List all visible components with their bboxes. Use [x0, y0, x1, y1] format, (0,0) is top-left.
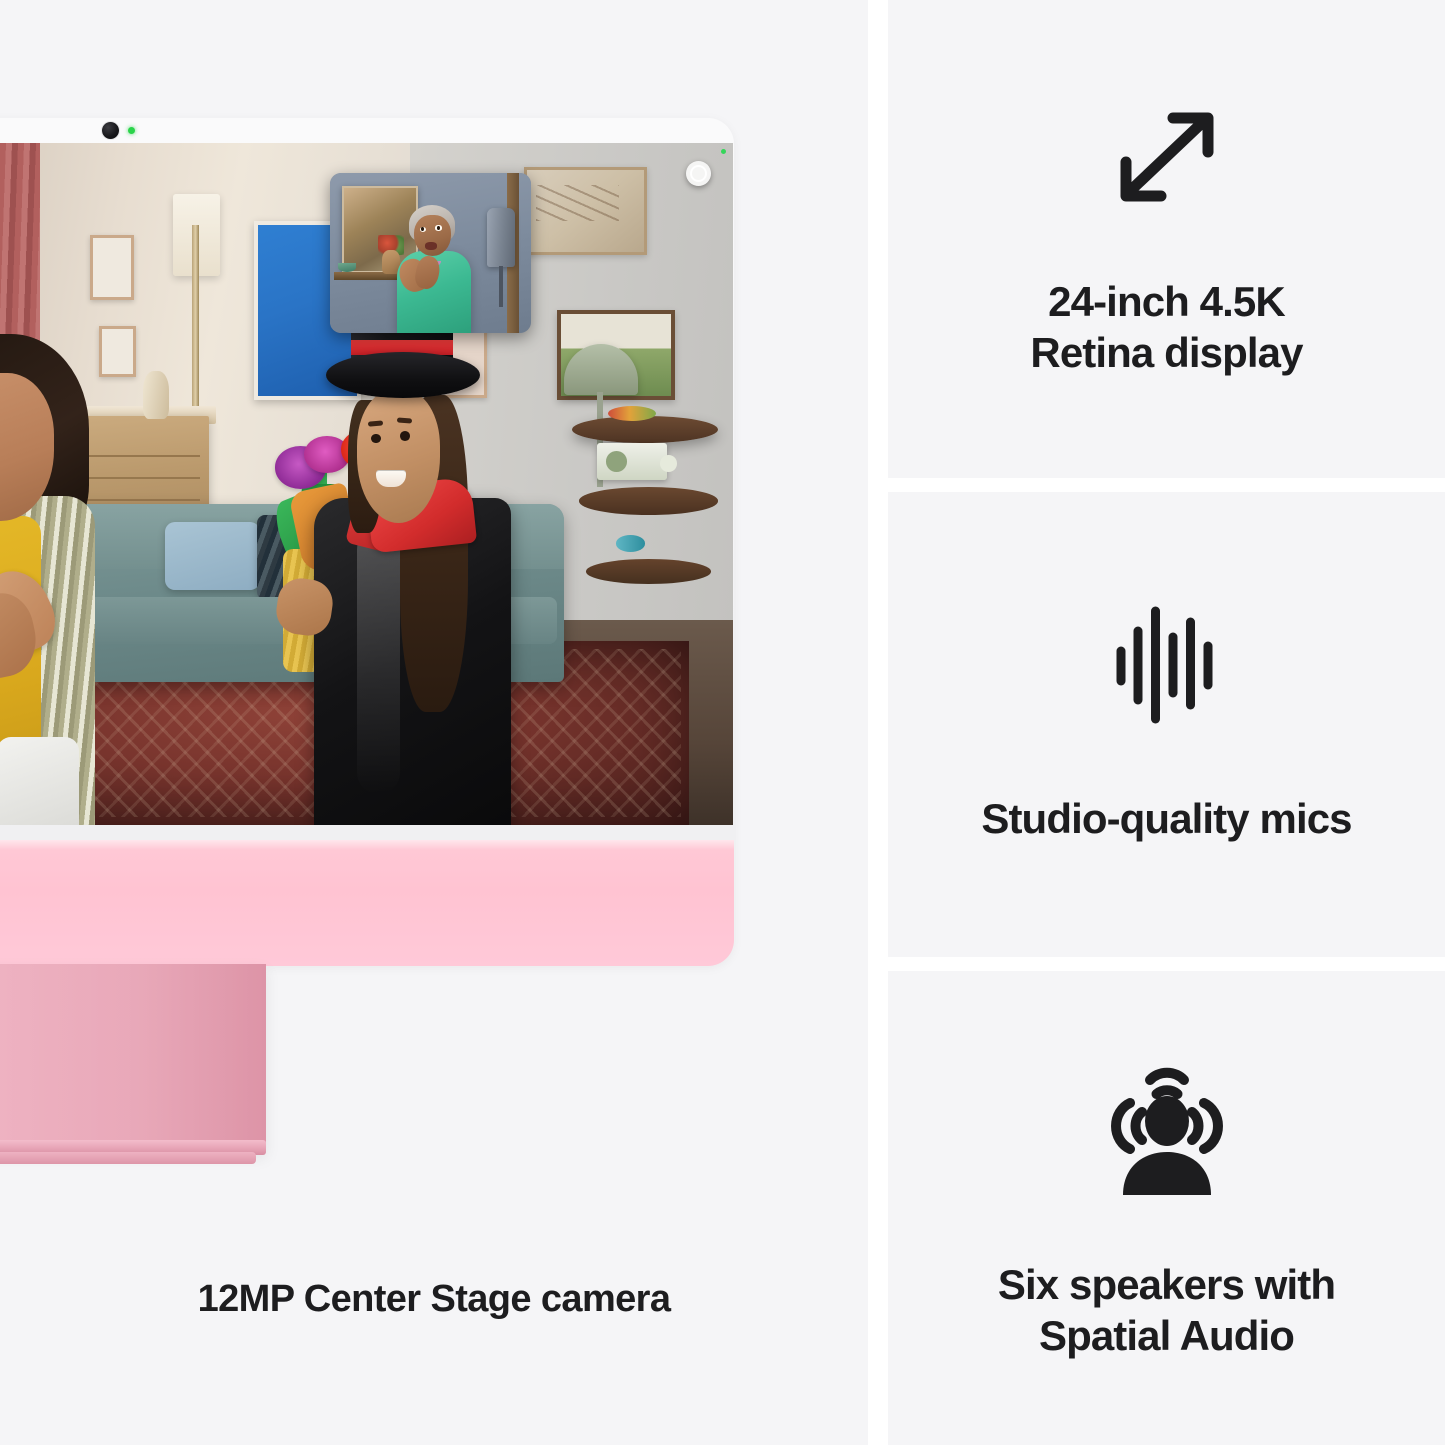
- imac-chin-highlight: [0, 840, 734, 850]
- feature-label-mics: Studio-quality mics: [981, 793, 1351, 844]
- facetime-self-view[interactable]: [330, 173, 531, 333]
- record-button-icon[interactable]: [686, 161, 711, 186]
- scene-girl-magician: [308, 314, 616, 826]
- camera-caption: 12MP Center Stage camera: [0, 1278, 868, 1321]
- imac-display: [0, 143, 733, 825]
- girl-eye: [371, 434, 381, 444]
- feature-card-mics: Studio-quality mics: [888, 492, 1445, 957]
- scene-teal-object: [616, 535, 645, 551]
- feature-card-display: 24-inch 4.5K Retina display: [888, 0, 1445, 478]
- scene-framed-picture: [90, 235, 134, 300]
- pip-woman-eye: [420, 227, 426, 232]
- pip-woman-mouth: [425, 242, 437, 250]
- woman-pants: [0, 737, 79, 825]
- spatial-audio-person-icon: [1103, 1055, 1231, 1197]
- pip-speaker: [487, 208, 515, 267]
- girl-cape-sheen: [357, 528, 400, 794]
- pip-woman-face: [414, 215, 451, 256]
- feature-label-display: 24-inch 4.5K Retina display: [1030, 276, 1302, 378]
- imac-stand-highlight: [0, 964, 266, 1152]
- pip-woman: [398, 205, 486, 333]
- feature-cards-column: 24-inch 4.5K Retina display Studio-quali…: [888, 0, 1445, 1445]
- screen-status-dot-icon: [721, 149, 726, 154]
- feature-label-line2: Retina display: [1030, 329, 1302, 376]
- scene-wall-map-art: [524, 167, 647, 255]
- feature-card-speakers: Six speakers with Spatial Audio: [888, 971, 1445, 1445]
- feature-label-speakers: Six speakers with Spatial Audio: [998, 1259, 1335, 1361]
- girl-top-hat-brim: [326, 352, 480, 398]
- scene-woman-clapping: [0, 334, 227, 825]
- camera-dot-icon: [102, 122, 119, 139]
- diagonal-resize-arrows-icon: [1103, 100, 1231, 218]
- pip-speaker-stand: [499, 266, 503, 308]
- girl-face: [357, 390, 440, 523]
- page-root: 12MP Center Stage camera 24-inch 4.5K Re…: [0, 0, 1445, 1445]
- camera-active-led-icon: [128, 127, 135, 134]
- feature-label-line1: Six speakers with: [998, 1261, 1335, 1308]
- imac-product-image: [0, 118, 734, 966]
- pip-woman-eye: [435, 225, 441, 230]
- feature-label-line1: 24-inch 4.5K: [1048, 278, 1285, 325]
- girl-eye: [400, 431, 410, 441]
- imac-chin: [0, 840, 734, 966]
- imac-stand-base: [0, 1152, 256, 1164]
- feature-label-line1: Studio-quality mics: [981, 795, 1351, 842]
- feature-label-line2: Spatial Audio: [1039, 1312, 1294, 1359]
- camera-feature-panel: 12MP Center Stage camera: [0, 0, 868, 1445]
- audio-waveform-icon: [1114, 605, 1220, 725]
- facetime-video-feed: [0, 143, 733, 825]
